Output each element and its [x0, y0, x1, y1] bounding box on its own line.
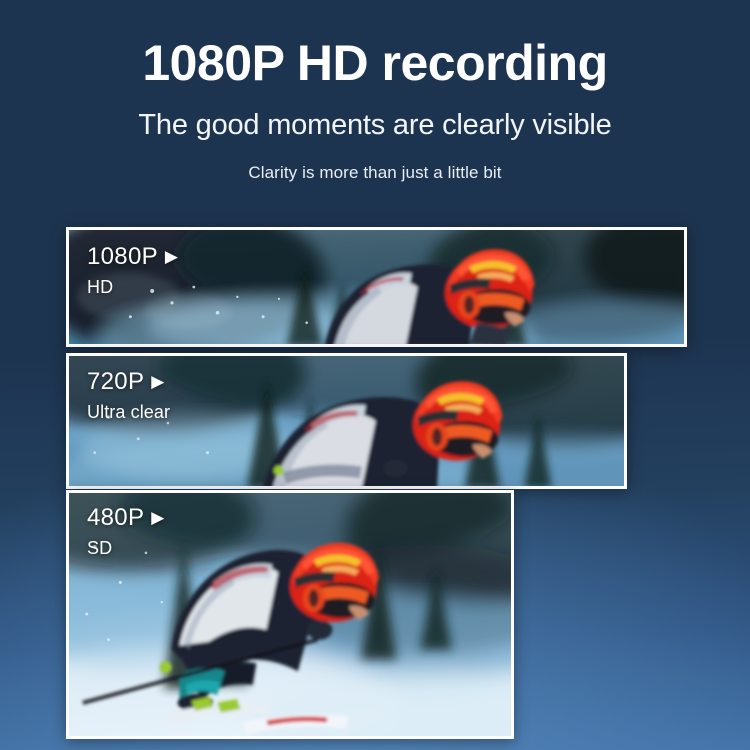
video-preview-panel-480p[interactable]: 480P▶ SD	[66, 490, 514, 739]
quality-label-720p: Ultra clear	[87, 403, 170, 421]
resolution-text: 480P	[87, 504, 144, 531]
resolution-label-1080p: 1080P▶	[87, 245, 178, 269]
page-title: 1080P HD recording	[0, 0, 750, 88]
panel-label-1080p: 1080P▶ HD	[87, 245, 178, 296]
resolution-label-720p: 720P▶	[87, 370, 170, 394]
quality-label-1080p: HD	[87, 278, 178, 296]
play-triangle-icon: ▶	[165, 247, 178, 266]
quality-label-480p: SD	[87, 539, 165, 557]
panel-label-480p: 480P▶ SD	[87, 506, 165, 557]
page-tagline: Clarity is more than just a little bit	[0, 142, 750, 183]
resolution-label-480p: 480P▶	[87, 506, 165, 530]
resolution-text: 1080P	[87, 243, 158, 270]
video-preview-panel-1080p[interactable]: 1080P▶ HD	[66, 227, 687, 347]
play-triangle-icon: ▶	[151, 372, 164, 391]
panel-label-720p: 720P▶ Ultra clear	[87, 370, 170, 421]
page-subtitle: The good moments are clearly visible	[0, 88, 750, 142]
resolution-text: 720P	[87, 368, 144, 395]
header: 1080P HD recording The good moments are …	[0, 0, 750, 183]
play-triangle-icon: ▶	[151, 508, 164, 527]
video-preview-panel-720p[interactable]: 720P▶ Ultra clear	[66, 353, 627, 489]
